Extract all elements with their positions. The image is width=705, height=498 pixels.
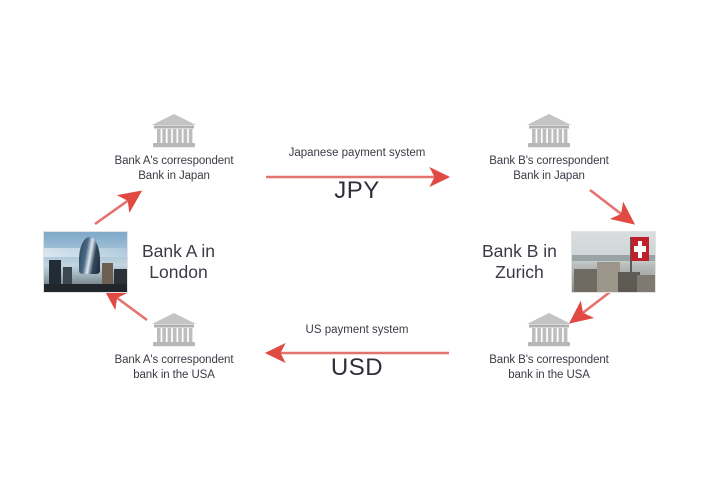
- arrow-bank-b-japan-to-zurich: [590, 190, 633, 223]
- node-bank-b-zurich: Bank B in Zurich: [482, 231, 656, 293]
- node-bank-a-london: Bank A in London: [43, 231, 215, 293]
- bank-classical-icon: [526, 112, 572, 150]
- bank-caption-line2: bank in the USA: [449, 368, 649, 383]
- corridor-usd-currency: USD: [242, 353, 472, 383]
- corridor-jpy: Japanese payment system JPY: [242, 146, 472, 206]
- corridor-usd-system: US payment system: [242, 323, 472, 337]
- arrow-london-to-bank-a-japan: [95, 192, 140, 224]
- bank-caption: Bank B's correspondent bank in the USA: [449, 353, 649, 382]
- london-gherkin-skyline-photo: [43, 231, 128, 293]
- node-bank-b-correspondent-japan: Bank B's correspondent Bank in Japan: [449, 112, 649, 183]
- city-label: Bank B in Zurich: [482, 241, 557, 283]
- diagram-canvas: Bank A's correspondent Bank in Japan Ban…: [0, 0, 705, 498]
- city-label-line2: London: [142, 262, 215, 283]
- city-label: Bank A in London: [142, 241, 215, 283]
- bank-classical-icon: [151, 112, 197, 150]
- bank-classical-icon: [526, 311, 572, 349]
- zurich-rooftops-swiss-flag-photo: [571, 231, 656, 293]
- node-bank-b-correspondent-usa: Bank B's correspondent bank in the USA: [449, 311, 649, 382]
- city-label-line1: Bank A in: [142, 241, 215, 262]
- bank-caption-line1: Bank B's correspondent: [449, 353, 649, 368]
- bank-classical-icon: [151, 311, 197, 349]
- bank-caption-line1: Bank B's correspondent: [449, 154, 649, 169]
- corridor-jpy-currency: JPY: [242, 176, 472, 206]
- bank-caption: Bank B's correspondent Bank in Japan: [449, 154, 649, 183]
- city-label-line1: Bank B in: [482, 241, 557, 262]
- bank-caption-line2: Bank in Japan: [449, 169, 649, 184]
- corridor-jpy-system: Japanese payment system: [242, 146, 472, 160]
- corridor-usd: US payment system USD: [242, 323, 472, 383]
- city-label-line2: Zurich: [482, 262, 557, 283]
